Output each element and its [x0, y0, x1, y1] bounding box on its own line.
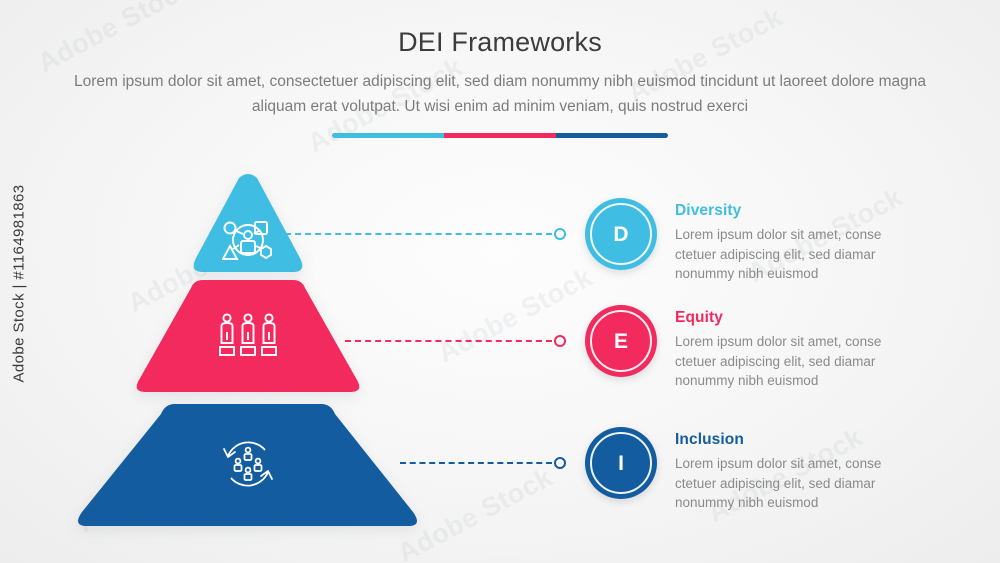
connector-endpoint-dot — [554, 228, 566, 240]
item-description-inclusion: Lorem ipsum dolor sit amet, conse ctetue… — [675, 454, 910, 513]
connector-inclusion — [400, 456, 566, 470]
list-item-equity[interactable]: E Equity Lorem ipsum dolor sit amet, con… — [585, 305, 910, 391]
divider-segment-equity — [444, 133, 556, 138]
item-title-equity: Equity — [675, 309, 910, 327]
connector-endpoint-dot — [554, 457, 566, 469]
divider — [332, 133, 668, 138]
page-title: DEI Frameworks — [0, 27, 1000, 58]
badge-inclusion: I — [585, 427, 657, 499]
badge-letter: D — [613, 224, 628, 245]
divider-segment-inclusion — [556, 133, 668, 138]
item-description-diversity: Lorem ipsum dolor sit amet, conse ctetue… — [675, 225, 910, 284]
connector-line — [285, 233, 552, 235]
divider-segment-diversity — [332, 133, 444, 138]
item-title-diversity: Diversity — [675, 202, 910, 220]
pyramid-tier-equity[interactable] — [135, 280, 361, 398]
pyramid-tier-inclusion[interactable] — [75, 404, 420, 532]
item-description-equity: Lorem ipsum dolor sit amet, conse ctetue… — [675, 332, 910, 391]
inclusion-people-circular-arrows-icon — [75, 436, 420, 492]
list-item-inclusion[interactable]: I Inclusion Lorem ipsum dolor sit amet, … — [585, 427, 910, 513]
equity-three-people-on-boxes-icon — [135, 310, 361, 362]
pyramid-tier-diversity[interactable] — [190, 170, 306, 280]
connector-endpoint-dot — [554, 335, 566, 347]
connector-equity — [345, 334, 566, 348]
badge-letter: E — [614, 331, 628, 352]
badge-letter: I — [618, 453, 624, 474]
list-item-diversity[interactable]: D Diversity Lorem ipsum dolor sit amet, … — [585, 198, 910, 284]
item-title-inclusion: Inclusion — [675, 431, 910, 449]
connector-line — [345, 340, 552, 342]
badge-equity: E — [585, 305, 657, 377]
connector-line — [400, 462, 552, 464]
badge-diversity: D — [585, 198, 657, 270]
page-subtitle: Lorem ipsum dolor sit amet, consectetuer… — [50, 69, 950, 119]
connector-diversity — [285, 227, 566, 241]
